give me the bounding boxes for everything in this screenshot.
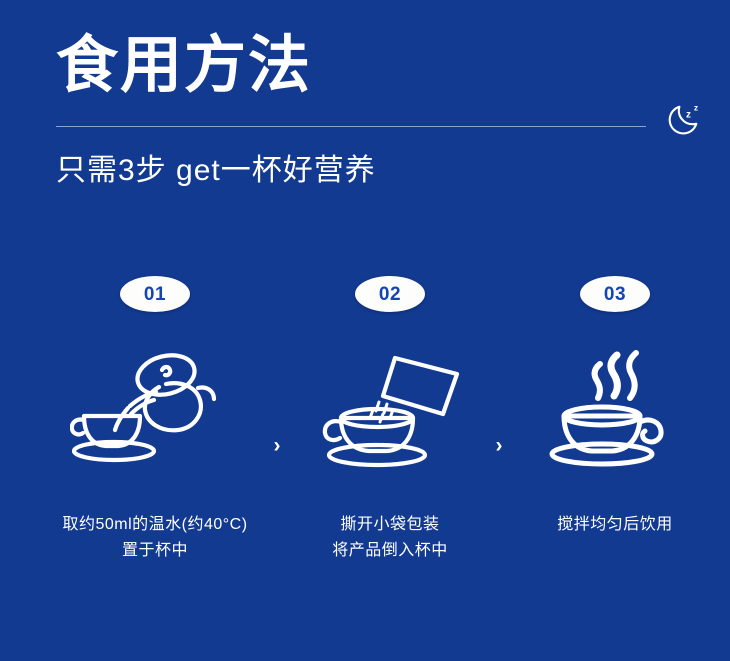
sleep-moon-icon: z z xyxy=(662,96,708,142)
svg-text:z: z xyxy=(694,103,698,113)
header-divider xyxy=(56,126,646,127)
steps-container: 01 xyxy=(0,262,730,592)
teapot-pouring-into-cup-icon xyxy=(70,340,240,470)
step-caption-line-2: 置于杯中 xyxy=(41,538,269,564)
step-caption-line-1: 撕开小袋包装 xyxy=(276,512,504,538)
header: 食用方法 只需3步 get一杯好营养 z z xyxy=(0,0,730,215)
step-item: 01 xyxy=(41,262,269,592)
step-caption: 搅拌均匀后饮用 xyxy=(501,512,729,538)
step-badge-label: 02 xyxy=(379,285,401,304)
step-badge-label: 01 xyxy=(144,285,166,304)
step-caption-line-2: 将产品倒入杯中 xyxy=(276,538,504,564)
step-badge-03: 03 xyxy=(580,276,650,312)
step-caption-line-1: 取约50ml的温水(约40°C) xyxy=(41,512,269,538)
step-caption-line-1: 搅拌均匀后饮用 xyxy=(501,512,729,538)
usage-instructions-page: 食用方法 只需3步 get一杯好营养 z z 01 xyxy=(0,0,730,661)
step-separator-arrow-icon: › xyxy=(487,432,511,460)
svg-text:z: z xyxy=(686,110,691,121)
step-caption: 取约50ml的温水(约40°C) 置于杯中 xyxy=(41,512,269,564)
page-subtitle: 只需3步 get一杯好营养 xyxy=(56,150,376,192)
steaming-cup-icon xyxy=(530,340,700,470)
step-badge-01: 01 xyxy=(120,276,190,312)
step-item: 02 xyxy=(276,262,504,592)
page-title: 食用方法 xyxy=(56,30,312,102)
step-badge-label: 03 xyxy=(604,285,626,304)
step-badge-02: 02 xyxy=(355,276,425,312)
step-caption: 撕开小袋包装 将产品倒入杯中 xyxy=(276,512,504,564)
step-separator-arrow-icon: › xyxy=(265,432,289,460)
step-item: 03 xyxy=(501,262,729,592)
sachet-pouring-powder-into-cup-icon xyxy=(305,340,475,470)
